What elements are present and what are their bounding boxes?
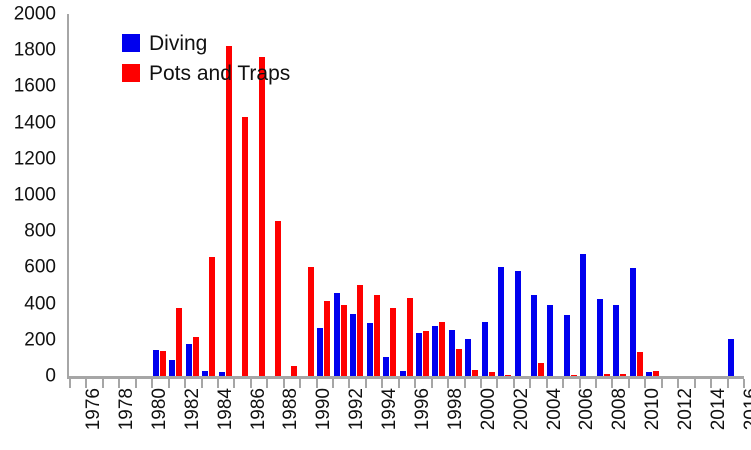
bar-2007-diving (580, 254, 586, 376)
bar-2016-diving (728, 339, 734, 376)
bar-1992-diving (334, 293, 340, 376)
x-tick (69, 379, 71, 388)
bar-1982-pots-and-traps (176, 308, 182, 376)
x-tick (151, 379, 153, 388)
legend-swatch-pots-and-traps-icon (122, 64, 140, 82)
x-tick (529, 379, 531, 388)
y-tick-label: 1400 (14, 113, 56, 132)
x-axis-ticks (0, 379, 751, 388)
bar-2003-diving (515, 271, 521, 376)
x-tick (102, 379, 104, 388)
y-axis: 2000180016001400120010008006004002000 (0, 0, 62, 390)
x-tick-label: 2006 (577, 388, 596, 430)
bar-1995-pots-and-traps (390, 308, 396, 376)
x-tick (299, 379, 301, 388)
bar-2010-pots-and-traps (637, 352, 643, 376)
x-tick-label: 2010 (643, 388, 662, 430)
bar-chart: 2000180016001400120010008006004002000 19… (0, 0, 751, 450)
bar-2001-diving (482, 322, 488, 376)
y-tick-label: 1800 (14, 41, 56, 60)
x-tick (727, 379, 729, 388)
bar-1998-diving (432, 326, 438, 376)
x-tick-label: 1994 (380, 388, 399, 430)
x-tick (381, 379, 383, 388)
x-tick (398, 379, 400, 388)
x-tick (135, 379, 137, 388)
x-tick-label: 2012 (676, 388, 695, 430)
x-tick (283, 379, 285, 388)
bar-1997-diving (416, 333, 422, 376)
x-tick (250, 379, 252, 388)
x-tick (694, 379, 696, 388)
bar-1992-pots-and-traps (341, 305, 347, 376)
bar-2000-diving (465, 339, 471, 376)
x-tick (710, 379, 712, 388)
legend-item-diving[interactable]: Diving (122, 28, 290, 58)
legend-label-pots-and-traps: Pots and Traps (149, 63, 290, 84)
bar-2005-diving (547, 305, 553, 376)
y-tick-label: 1600 (14, 77, 56, 96)
bar-1986-pots-and-traps (242, 117, 248, 376)
x-tick (628, 379, 630, 388)
bar-1990-pots-and-traps (308, 267, 314, 377)
x-tick (677, 379, 679, 388)
y-tick-label: 600 (24, 258, 56, 277)
x-tick (579, 379, 581, 388)
x-tick-label: 2002 (512, 388, 531, 430)
x-axis: 1976197819801982198419861988199019921994… (0, 388, 751, 450)
bar-1987-pots-and-traps (259, 57, 265, 376)
x-tick-label: 1992 (347, 388, 366, 430)
bar-1988-pots-and-traps (275, 221, 281, 376)
legend-label-diving: Diving (149, 33, 207, 54)
x-tick (661, 379, 663, 388)
x-tick (365, 379, 367, 388)
x-tick (168, 379, 170, 388)
bar-2004-pots-and-traps (538, 363, 544, 376)
x-tick-label: 1996 (413, 388, 432, 430)
x-tick-label: 1980 (150, 388, 169, 430)
x-tick (464, 379, 466, 388)
bar-2010-diving (630, 268, 636, 376)
bar-2008-diving (597, 299, 603, 376)
legend-item-pots-and-traps[interactable]: Pots and Traps (122, 58, 290, 88)
x-tick-label: 1990 (314, 388, 333, 430)
x-tick-label: 1998 (446, 388, 465, 430)
y-tick-label: 400 (24, 294, 56, 313)
legend: Diving Pots and Traps (122, 28, 290, 88)
x-tick-label: 2014 (709, 388, 728, 430)
bar-2006-diving (564, 315, 570, 376)
bar-1993-pots-and-traps (357, 285, 363, 376)
x-tick (184, 379, 186, 388)
bar-1991-diving (317, 328, 323, 376)
y-tick-label: 200 (24, 330, 56, 349)
bar-1995-diving (383, 357, 389, 376)
bar-1981-diving (153, 350, 159, 376)
bar-1996-pots-and-traps (407, 298, 413, 376)
x-tick-label: 1978 (117, 388, 136, 430)
x-tick (266, 379, 268, 388)
x-tick (562, 379, 564, 388)
bar-1999-pots-and-traps (456, 349, 462, 376)
x-tick (743, 379, 745, 388)
x-tick (217, 379, 219, 388)
bar-1993-diving (350, 314, 356, 376)
x-tick (595, 379, 597, 388)
bar-2004-diving (531, 295, 537, 376)
x-tick-label: 1976 (84, 388, 103, 430)
y-tick-label: 800 (24, 222, 56, 241)
x-tick (414, 379, 416, 388)
x-tick-label: 1984 (216, 388, 235, 430)
bar-1994-pots-and-traps (374, 295, 380, 376)
bar-1985-pots-and-traps (226, 46, 232, 376)
bar-1991-pots-and-traps (324, 301, 330, 376)
x-tick (546, 379, 548, 388)
x-tick (447, 379, 449, 388)
x-tick (513, 379, 515, 388)
x-tick (611, 379, 613, 388)
x-tick (480, 379, 482, 388)
x-tick-label: 2000 (479, 388, 498, 430)
y-tick-label: 1000 (14, 186, 56, 205)
x-tick-label: 2016 (742, 388, 751, 430)
x-tick-label: 1982 (183, 388, 202, 430)
bar-1999-diving (449, 330, 455, 376)
x-tick (85, 379, 87, 388)
bar-1997-pots-and-traps (423, 331, 429, 376)
bar-2009-diving (613, 305, 619, 376)
y-tick-label: 2000 (14, 5, 56, 24)
x-tick (348, 379, 350, 388)
x-tick (496, 379, 498, 388)
x-tick (644, 379, 646, 388)
legend-swatch-diving-icon (122, 34, 140, 52)
y-tick-label: 1200 (14, 149, 56, 168)
bar-1994-diving (367, 323, 373, 376)
bar-1989-pots-and-traps (291, 366, 297, 376)
bar-1982-diving (169, 360, 175, 376)
x-tick-label: 2004 (545, 388, 564, 430)
bar-1981-pots-and-traps (160, 351, 166, 376)
x-tick (201, 379, 203, 388)
x-tick-label: 1986 (249, 388, 268, 430)
bar-1984-pots-and-traps (209, 257, 215, 376)
x-tick-label: 2008 (610, 388, 629, 430)
x-tick (233, 379, 235, 388)
bar-2002-diving (498, 267, 504, 376)
bar-1998-pots-and-traps (439, 322, 445, 376)
x-tick (118, 379, 120, 388)
bar-1983-diving (186, 344, 192, 376)
x-tick (316, 379, 318, 388)
bar-1983-pots-and-traps (193, 337, 199, 376)
x-tick-label: 1988 (281, 388, 300, 430)
x-tick (332, 379, 334, 388)
x-tick (431, 379, 433, 388)
